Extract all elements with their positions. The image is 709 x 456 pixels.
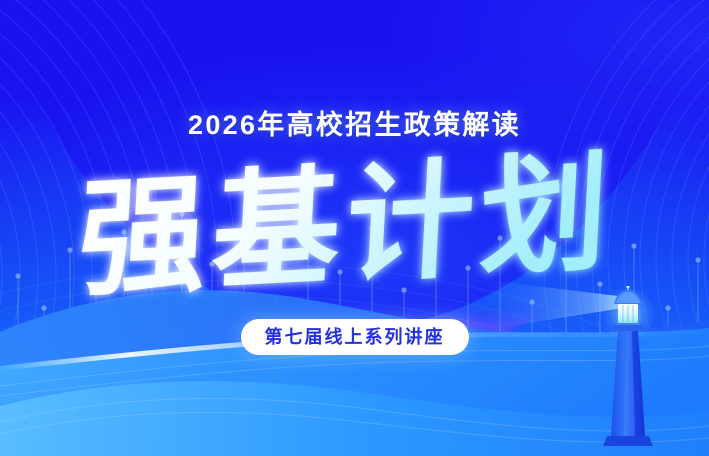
status-badge-label: 第七届线上系列讲座 xyxy=(265,328,445,346)
status-badge[interactable]: 第七届线上系列讲座 xyxy=(241,319,469,355)
lighthouse-icon xyxy=(585,286,671,446)
title-wrap: 强基计划 xyxy=(0,150,709,310)
page-title-text: 强基计划 xyxy=(74,142,617,312)
page-title: 强基计划 xyxy=(125,150,585,310)
poster-subtitle: 2026年高校招生政策解读 xyxy=(0,103,709,142)
poster-canvas: 2026年高校招生政策解读 xyxy=(0,0,709,456)
